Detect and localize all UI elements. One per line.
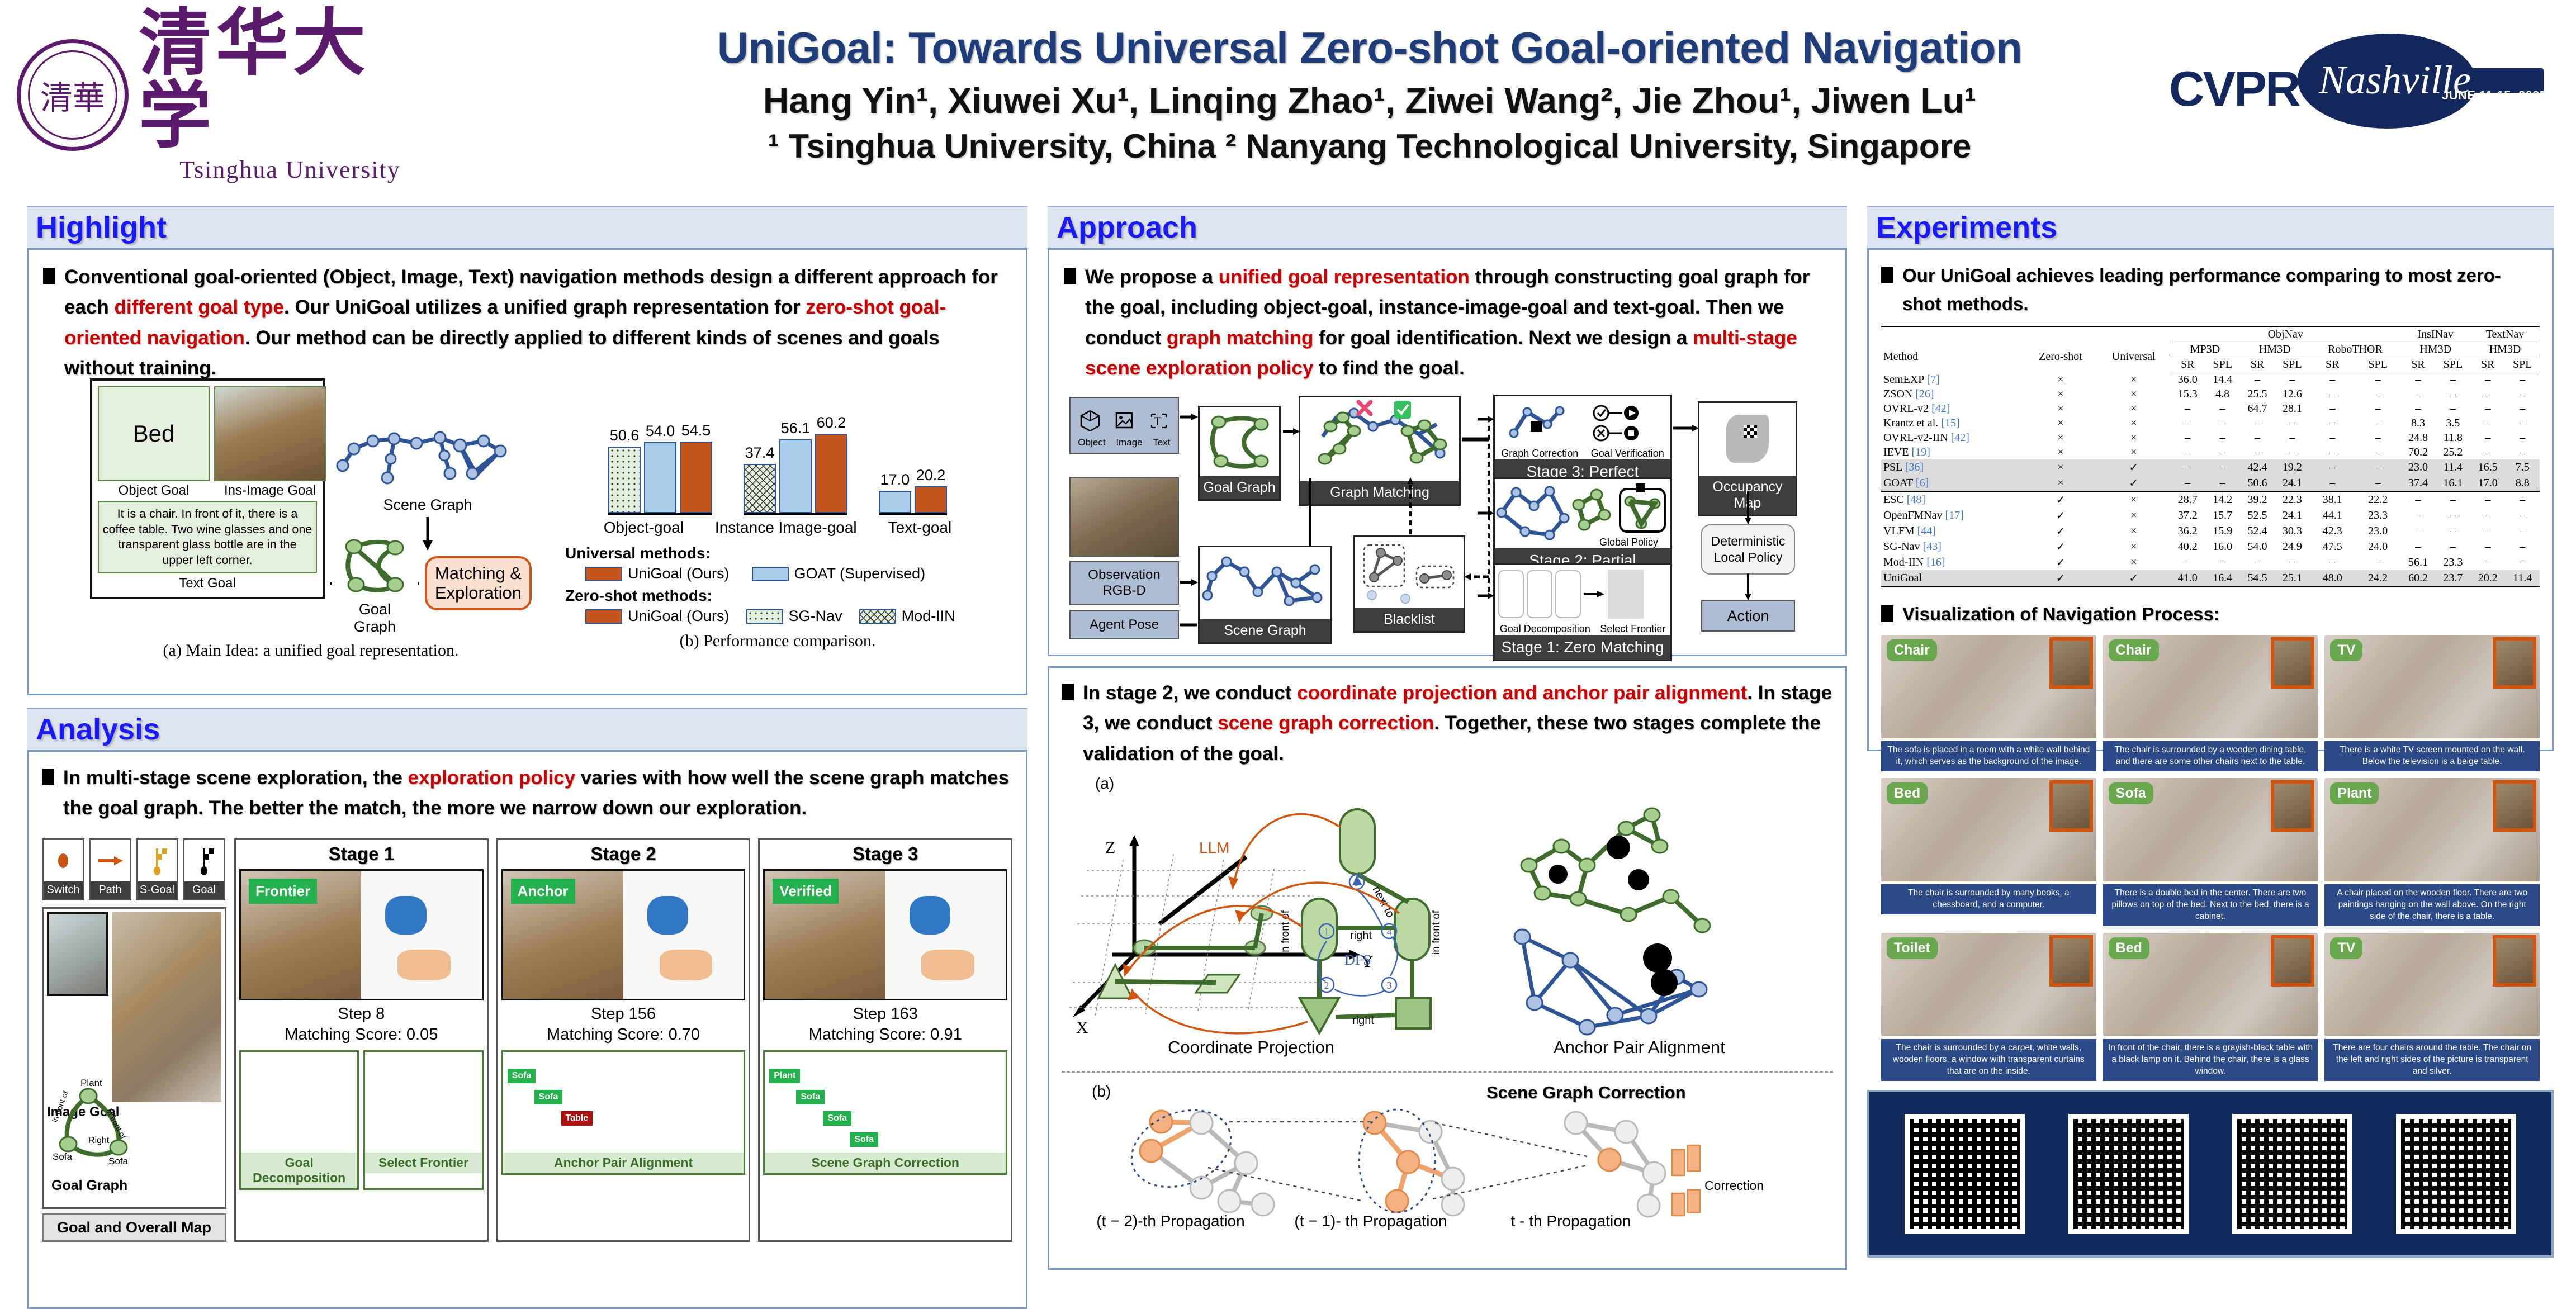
citation[interactable]: [43]	[1923, 540, 1942, 553]
cell-value: –	[2436, 508, 2470, 523]
cell-value: 24.8	[2400, 430, 2435, 445]
section-title-highlight: Highlight	[27, 207, 1027, 248]
cell-value: 37.2	[2170, 508, 2205, 523]
poster-header: 清华大学 Tsinghua University UniGoal: Toward…	[0, 0, 2576, 196]
section-title-experiments: Experiments	[1867, 207, 2554, 248]
stage-subpanel: PlantSofaSofaSofaScene Graph Correction	[763, 1050, 1007, 1175]
goal-thumbnail	[2271, 935, 2314, 987]
pipeline-blacklist-svg	[1355, 537, 1464, 605]
section-title-analysis: Analysis	[27, 709, 1027, 750]
bullet-square-icon	[1881, 267, 1893, 283]
cell-value: 50.6	[2240, 475, 2275, 491]
stage-subpanel: Select Frontier	[363, 1050, 483, 1190]
cell-value: –	[2470, 508, 2505, 523]
citation[interactable]: [26]	[1915, 388, 1934, 400]
bullet-square-icon	[1062, 684, 1074, 700]
qr-code-2[interactable]	[2068, 1114, 2189, 1234]
propagation-svg: Correction	[1062, 1089, 1811, 1223]
experiments-title-band: Experiments	[1867, 206, 2554, 248]
goal-overall-map-caption: Goal and Overall Map	[42, 1213, 226, 1242]
cell-value: –	[2505, 491, 2540, 508]
citation[interactable]: [42]	[1951, 431, 1969, 444]
axis-x-label: X	[1076, 1018, 1088, 1037]
stage-step-info: Step 8Matching Score: 0.05	[239, 1004, 484, 1046]
svg-text:3: 3	[1387, 980, 1392, 991]
cell-value: –	[2505, 401, 2540, 416]
stage1-sub-goal-decomposition: Goal Decomposition	[1500, 623, 1590, 635]
puzzle-piece-icon	[1549, 836, 1678, 996]
cell-value: 25.5	[2240, 387, 2275, 401]
cell-value: –	[2275, 554, 2309, 570]
citation[interactable]: [42]	[1931, 402, 1950, 415]
down-arrow-icon	[416, 517, 439, 552]
text-goal-label: Text Goal	[98, 576, 317, 591]
goal-thumbnail	[2049, 637, 2093, 689]
cell-value: 24.1	[2275, 475, 2309, 491]
propagation-caption: (t − 1)- th Propagation	[1284, 1212, 1457, 1230]
cell-value: 15.3	[2170, 387, 2205, 401]
qr-code-4[interactable]	[2396, 1114, 2516, 1234]
cell-value: –	[2275, 372, 2309, 387]
stage-observation-image: Anchor	[501, 869, 746, 1000]
cell-value: 16.5	[2470, 459, 2505, 475]
navigation-visualization-cell: TVThere is a white TV screen mounted on …	[2324, 635, 2540, 771]
cell-zeroshot: ✓	[2024, 539, 2097, 554]
legend-label: UniGoal (Ours)	[628, 608, 730, 625]
bar-value-label: 37.4	[744, 444, 776, 462]
navigation-visualization-cell: BedIn front of the chair, there is a gra…	[2103, 933, 2318, 1081]
bar-unigoal-ours-	[680, 442, 712, 513]
cell-value: 20.2	[2470, 570, 2505, 586]
cell-value: –	[2205, 416, 2239, 430]
cell-value: –	[2310, 401, 2355, 416]
bar-column: 60.2	[815, 414, 847, 513]
cell-value: –	[2205, 430, 2239, 445]
cell-value: –	[2505, 430, 2540, 445]
cell-value: –	[2505, 554, 2540, 570]
experiments-panel: Our UniGoal achieves leading performance…	[1867, 248, 2554, 751]
table-row: OVRL-v2 [42]××––64.728.1––––––	[1881, 401, 2540, 416]
pipeline-scene-graph-svg	[1200, 547, 1330, 616]
cell-value: 39.2	[2240, 491, 2275, 508]
goal-graph-label: Goal Graph	[51, 1178, 127, 1194]
figure-a-caption: (a) Main Idea: a unified goal representa…	[90, 641, 532, 660]
bar-value-label: 54.5	[680, 422, 712, 439]
goal-verification-icon	[1589, 400, 1661, 444]
path-icon	[91, 840, 130, 881]
cell-value: –	[2470, 554, 2505, 570]
cell-value: –	[2310, 554, 2355, 570]
anchor-pair-alignment-caption: Anchor Pair Alignment	[1554, 1037, 1725, 1057]
switch-icon	[44, 840, 83, 881]
cell-zeroshot: ✓	[2024, 491, 2097, 508]
table-row: IEVE [19]××––––––70.225.2––	[1881, 445, 2540, 459]
cell-value: 30.3	[2275, 523, 2309, 539]
pipeline-observation-box: Observation RGB-D	[1069, 561, 1179, 605]
cell-value: 24.0	[2355, 539, 2400, 554]
analysis-text: In multi-stage scene exploration, the ex…	[63, 763, 1012, 824]
stage-observation-image: Frontier	[239, 869, 484, 1000]
cell-value: 25.2	[2436, 445, 2470, 459]
navigation-visualization-cell: ToiletThe chair is surrounded by a carpe…	[1881, 933, 2096, 1081]
left-column: Highlight Conventional goal-oriented (Ob…	[27, 206, 1027, 1309]
pipeline-stage1-caption: Stage 1: Zero Matching	[1495, 635, 1670, 660]
cell-value: –	[2240, 445, 2275, 459]
step-number: Step 8	[239, 1004, 484, 1025]
cell-value: –	[2505, 539, 2540, 554]
svg-text:in front of: in front of	[1431, 910, 1442, 955]
cell-zeroshot: ×	[2024, 387, 2097, 401]
approach-text-2: In stage 2, we conduct coordinate projec…	[1083, 678, 1833, 769]
citation[interactable]: [7]	[1927, 373, 1940, 386]
cell-value: –	[2310, 445, 2355, 459]
affiliation-list: ¹ Tsinghua University, China ² Nanyang T…	[643, 127, 2096, 165]
cell-universal: ✓	[2097, 570, 2170, 586]
dataset-hm3d-text: HM3D	[2470, 342, 2540, 357]
cell-universal: ×	[2097, 387, 2170, 401]
cell-zeroshot: ✓	[2024, 570, 2097, 586]
cell-value: –	[2400, 508, 2435, 523]
stage1-sub-select-frontier: Select Frontier	[1600, 623, 1665, 635]
table-row: Krantz et al. [15]××––––––8.33.5––	[1881, 416, 2540, 430]
cell-value: 17.0	[2470, 475, 2505, 491]
bar-column: 50.6	[608, 427, 641, 513]
cell-value: –	[2470, 491, 2505, 508]
cell-value: –	[2505, 372, 2540, 387]
legend-icon-cell-switch: Switch	[42, 838, 84, 900]
cell-value: –	[2170, 401, 2205, 416]
citation[interactable]: [48]	[1907, 494, 1925, 506]
cell-universal: ×	[2097, 372, 2170, 387]
cell-value: –	[2310, 372, 2355, 387]
navigation-visualization-cell: PlantA chair placed on the wooden floor.…	[2324, 778, 2540, 926]
goal-thumbnail	[2049, 935, 2093, 987]
cell-value: –	[2310, 459, 2355, 475]
citation[interactable]: [6]	[1916, 477, 1929, 489]
matching-score: Matching Score: 0.91	[763, 1025, 1007, 1046]
goal-thumbnail	[2271, 780, 2314, 832]
llm-label: LLM	[1199, 839, 1229, 856]
legend-swatch	[585, 609, 622, 624]
scene-description: There are four chairs around the table. …	[2324, 1039, 2540, 1081]
subpanel-caption: Goal Decomposition	[241, 1153, 357, 1188]
legend-universal-header: Universal methods:	[565, 544, 990, 562]
cell-value: 4.8	[2205, 387, 2239, 401]
citation[interactable]: [36]	[1905, 461, 1924, 473]
citation[interactable]: [17]	[1945, 509, 1964, 521]
qr-code-1[interactable]	[1905, 1114, 2025, 1234]
cell-value: –	[2505, 416, 2540, 430]
cell-value: 28.1	[2275, 401, 2309, 416]
table-row: VLFM [44]✓×36.215.952.430.342.323.0––––	[1881, 523, 2540, 539]
analysis-panel: In multi-stage scene exploration, the ex…	[27, 750, 1027, 1309]
subpanel-caption: Anchor Pair Alignment	[503, 1153, 744, 1173]
citation[interactable]: [44]	[1917, 525, 1936, 537]
bullet-square-icon	[1881, 605, 1893, 622]
cell-value: –	[2170, 459, 2205, 475]
tsinghua-seal-icon	[17, 39, 129, 151]
stage-observation-image: Verified	[763, 869, 1007, 1000]
cell-value: –	[2355, 401, 2400, 416]
table-row: ESC [48]✓×28.714.239.222.338.122.2––––	[1881, 491, 2540, 508]
qr-code-3[interactable]	[2232, 1114, 2352, 1234]
legend-icon-label: Goal	[184, 881, 224, 899]
row-method: UniGoal	[1881, 570, 2024, 586]
table-row: OpenFMNav [17]✓×37.215.752.524.144.123.3…	[1881, 508, 2540, 523]
bar-goat-supervised-	[879, 491, 911, 513]
goal-tag: Chair	[2109, 639, 2159, 661]
pipeline-input-label: Text	[1153, 437, 1170, 448]
approach-bullet-2: In stage 2, we conduct coordinate projec…	[1062, 678, 1833, 769]
goal-thumbnail	[2493, 637, 2536, 689]
cell-value: –	[2355, 387, 2400, 401]
cell-value: –	[2355, 430, 2400, 445]
cell-value: –	[2205, 445, 2239, 459]
bar-value-label: 17.0	[879, 471, 911, 488]
cell-value: –	[2355, 459, 2400, 475]
cell-value: 22.3	[2275, 491, 2309, 508]
col-header-metric: SR	[2470, 357, 2505, 372]
cell-zeroshot: ×	[2024, 475, 2097, 491]
approach-title-band: Approach	[1048, 206, 1847, 248]
cell-value: –	[2470, 401, 2505, 416]
pipeline-local-policy-box: Deterministic Local Policy	[1701, 524, 1795, 575]
bar-category-label: Object-goal	[604, 519, 684, 537]
cell-zeroshot: ×	[2024, 445, 2097, 459]
visualization-bullet: Visualization of Navigation Process:	[1881, 600, 2540, 628]
cell-value: –	[2275, 416, 2309, 430]
col-header-metric: SPL	[2275, 357, 2309, 372]
cell-universal: ×	[2097, 539, 2170, 554]
bar-column: 17.0	[879, 471, 911, 513]
instance-image-goal-thumbnail	[214, 386, 326, 481]
bar-value-label: 20.2	[915, 467, 947, 484]
cube-icon	[1079, 409, 1101, 431]
approach-detail-panel: In stage 2, we conduct coordinate projec…	[1048, 666, 1847, 1270]
cell-value: 36.0	[2170, 372, 2205, 387]
cell-value: 42.3	[2310, 523, 2355, 539]
stage-title: Stage 1	[239, 843, 484, 865]
pipeline-goal-graph-svg	[1200, 407, 1279, 473]
stage-subpanels: PlantSofaSofaSofaScene Graph Correction	[763, 1050, 1007, 1175]
citation[interactable]: [15]	[1941, 417, 1959, 429]
citation[interactable]: [19]	[1912, 446, 1930, 458]
bar-sg-nav	[608, 447, 641, 513]
cell-value: –	[2436, 387, 2470, 401]
cell-value: 8.3	[2400, 416, 2435, 430]
correction-label: Correction	[1704, 1178, 1764, 1193]
cell-value: 7.5	[2505, 459, 2540, 475]
cell-universal: ×	[2097, 430, 2170, 445]
cell-value: –	[2470, 445, 2505, 459]
stage-badge: Anchor	[511, 879, 575, 904]
navigation-visualization-cell: ChairThe sofa is placed in a room with a…	[1881, 635, 2096, 771]
cell-zeroshot: ×	[2024, 372, 2097, 387]
svg-text:T: T	[1154, 414, 1162, 428]
stage3-sub-graph-correction: Graph Correction	[1501, 448, 1578, 459]
matching-exploration-label: Matching & Exploration	[435, 563, 522, 603]
table-row: OVRL-v2-IIN [42]××––––––24.811.8––	[1881, 430, 2540, 445]
cell-value: –	[2170, 430, 2205, 445]
graph-node-label: Sofa	[508, 1069, 536, 1083]
bar-column: 56.1	[779, 420, 812, 513]
bar-group: 37.456.160.2	[744, 414, 847, 515]
col-header-universal: Universal	[2097, 342, 2170, 372]
cell-value: –	[2400, 491, 2435, 508]
goal-thumbnail	[2493, 935, 2536, 987]
cell-value: 23.7	[2436, 570, 2470, 586]
pipeline-graph-matching-caption: Graph Matching	[1300, 481, 1459, 504]
cell-value: 14.4	[2205, 372, 2239, 387]
table-row: SemEXP [7]××36.014.4––––––––	[1881, 372, 2540, 387]
cell-value: 48.0	[2310, 570, 2355, 586]
experiments-text: Our UniGoal achieves leading performance…	[1902, 261, 2540, 318]
cell-value: –	[2355, 554, 2400, 570]
cell-universal: ✓	[2097, 475, 2170, 491]
bar-column: 54.0	[644, 423, 676, 513]
col-header-metric: SPL	[2436, 357, 2470, 372]
cell-value: –	[2400, 539, 2435, 554]
citation[interactable]: [16]	[1926, 556, 1945, 568]
cell-value: 24.9	[2275, 539, 2309, 554]
goal-graph-analysis-svg: Plant Sofa Sofa Right in front of in fro…	[48, 1077, 165, 1175]
bullet-square-icon	[43, 268, 55, 284]
cell-value: –	[2240, 372, 2275, 387]
stage-title: Stage 2	[501, 843, 746, 865]
scene-graph-svg	[333, 426, 523, 494]
cell-universal: ×	[2097, 523, 2170, 539]
graph-node-label: Sofa	[823, 1111, 851, 1126]
task-group-insinav: InsINav	[2400, 326, 2470, 342]
cell-value: 14.2	[2205, 491, 2239, 508]
stage-step-info: Step 156Matching Score: 0.70	[501, 1004, 746, 1046]
pipeline-scene-graph-caption: Scene Graph	[1200, 619, 1330, 642]
scene-description: There is a white TV screen mounted on th…	[2324, 741, 2540, 771]
cell-value: –	[2205, 459, 2239, 475]
legend-icon-label: Path	[91, 881, 130, 899]
bar-value-label: 54.0	[644, 423, 676, 440]
goal-thumbnail	[2493, 780, 2536, 832]
cell-value: –	[2470, 416, 2505, 430]
cell-value: –	[2170, 416, 2205, 430]
cell-value: –	[2436, 372, 2470, 387]
cell-universal: ×	[2097, 416, 2170, 430]
bar-unigoal-ours-	[915, 486, 947, 513]
cell-value: 24.2	[2355, 570, 2400, 586]
goal-tag: Plant	[2330, 782, 2379, 804]
cell-value: 24.1	[2275, 508, 2309, 523]
cell-value: 3.5	[2436, 416, 2470, 430]
col-header-method: Method	[1881, 342, 2024, 372]
analysis-bullet: In multi-stage scene exploration, the ex…	[42, 763, 1012, 824]
cell-value: –	[2436, 401, 2470, 416]
cell-value: 37.4	[2400, 475, 2435, 491]
cell-value: 25.1	[2275, 570, 2309, 586]
cell-value: –	[2436, 523, 2470, 539]
right-arrow-icon-2	[418, 577, 419, 590]
svg-text:DFS: DFS	[1344, 952, 1371, 968]
matching-score: Matching Score: 0.70	[501, 1025, 746, 1046]
stage-column-3: Stage 3VerifiedStep 163Matching Score: 0…	[758, 838, 1012, 1242]
legend-icon-cell-goal: Goal	[183, 838, 225, 900]
navigation-visualization-cell: BedThe chair is surrounded by many books…	[1881, 778, 2096, 926]
legend-item: Mod-IIN	[859, 608, 955, 625]
highlight-title-band: Highlight	[27, 206, 1027, 248]
image-goal-thumbnail	[47, 912, 108, 996]
pipeline-inputs-box: T ObjectImageText	[1069, 397, 1179, 454]
stage3-sub-goal-verification: Goal Verification	[1591, 448, 1664, 459]
figure-b-caption: (b) Performance comparison.	[565, 632, 990, 651]
pipeline-graph-matching-svg	[1300, 397, 1459, 481]
step-number: Step 156	[501, 1004, 746, 1025]
scene-description: A chair placed on the wooden floor. Ther…	[2324, 884, 2540, 926]
svg-text:1: 1	[1324, 926, 1329, 937]
table-row: GOAT [6]×✓––50.624.1––37.416.117.08.8	[1881, 475, 2540, 491]
pipeline-agent-pose-box: Agent Pose	[1069, 610, 1179, 639]
cell-value: –	[2310, 416, 2355, 430]
cell-value: 11.4	[2436, 459, 2470, 475]
analysis-title-band: Analysis	[27, 708, 1027, 750]
col-header-metric: SPL	[2205, 357, 2239, 372]
legend-label: SG-Nav	[789, 608, 842, 625]
image-icon	[1113, 409, 1135, 431]
legend-icon-label: S-Goal	[138, 881, 177, 899]
cell-value: –	[2275, 445, 2309, 459]
cell-value: –	[2505, 445, 2540, 459]
table-row: UniGoal✓✓41.016.454.525.148.024.260.223.…	[1881, 570, 2540, 586]
cell-value: –	[2400, 523, 2435, 539]
row-method: OpenFMNav [17]	[1881, 508, 2024, 523]
dataset-hm3d-obj: HM3D	[2240, 342, 2310, 357]
stage-subpanels: Goal DecompositionSelect Frontier	[239, 1050, 484, 1190]
bar-category-label: Instance Image-goal	[715, 519, 857, 537]
bar-column: 54.5	[680, 422, 712, 513]
bar-group: 50.654.054.5	[608, 422, 712, 515]
matching-score: Matching Score: 0.05	[239, 1025, 484, 1046]
figure-performance-chart: 50.654.054.537.456.160.217.020.2 Object-…	[565, 387, 990, 651]
cell-universal: ×	[2097, 491, 2170, 508]
cell-value: 28.7	[2170, 491, 2205, 508]
graph-node-label: Plant	[769, 1069, 800, 1083]
cell-value: –	[2400, 387, 2435, 401]
table-row: SG-Nav [43]✓×40.216.054.024.947.524.0–––…	[1881, 539, 2540, 554]
navigation-visualization-cell: SofaThere is a double bed in the center.…	[2103, 778, 2318, 926]
cell-value: –	[2240, 554, 2275, 570]
task-group-textnav: TextNav	[2470, 326, 2540, 342]
bar-goat-supervised-	[644, 442, 676, 513]
cell-value: 11.4	[2505, 570, 2540, 586]
university-name-en: Tsinghua University	[179, 155, 400, 184]
col-header-metric: SPL	[2505, 357, 2540, 372]
dataset-robothor: RoboTHOR	[2310, 342, 2401, 357]
svg-text:Sofa: Sofa	[108, 1156, 129, 1166]
legend-swatch	[585, 567, 622, 581]
cell-value: 47.5	[2310, 539, 2355, 554]
col-header-metric: SR	[2400, 357, 2435, 372]
cell-value: –	[2355, 445, 2400, 459]
subpanel-caption: Select Frontier	[365, 1153, 481, 1173]
legend-item: GOAT (Supervised)	[752, 565, 926, 582]
legend-icon-cell-path: Path	[89, 838, 131, 900]
arrow-right-icon	[1584, 589, 1604, 600]
cell-value: –	[2470, 372, 2505, 387]
highlight-bullet: Conventional goal-oriented (Object, Imag…	[43, 262, 1011, 383]
university-name-cn: 清华大学	[139, 7, 442, 152]
graph-correction-icon	[1504, 400, 1571, 444]
coordinate-projection-svg: Z Y X	[1062, 787, 1816, 1050]
object-goal-label: Object Goal	[98, 483, 210, 499]
col-header-metric: SR	[2310, 357, 2355, 372]
